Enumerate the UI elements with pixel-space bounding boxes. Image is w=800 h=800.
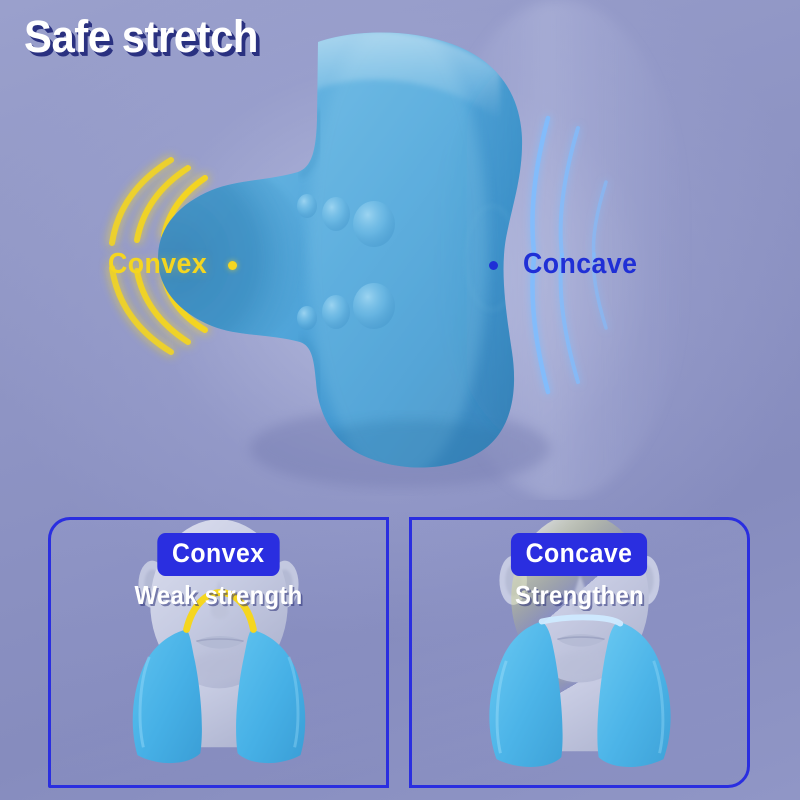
subtitle-concave: Strengthen: [425, 582, 733, 608]
comparison-panel-concave[interactable]: Concave Strengthen: [409, 517, 750, 788]
callout-dot-convex: [228, 261, 237, 270]
callout-label-convex: Convex: [108, 250, 207, 279]
panel-heading-convex: Convex Weak strength: [51, 520, 386, 608]
panel-heading-concave: Concave Strengthen: [412, 520, 747, 608]
product-infographic: Safe stretch Convex Concave: [0, 0, 800, 800]
callout-dot-concave: [489, 261, 498, 270]
subtitle-convex: Weak strength: [64, 582, 372, 608]
comparison-panel-convex[interactable]: Convex Weak strength: [48, 517, 389, 788]
page-title: Safe stretch: [24, 14, 258, 59]
badge-concave: Concave: [511, 533, 647, 576]
hero-section: Safe stretch Convex Concave: [0, 0, 800, 500]
callout-label-concave: Concave: [523, 250, 637, 279]
badge-convex: Convex: [158, 533, 280, 576]
